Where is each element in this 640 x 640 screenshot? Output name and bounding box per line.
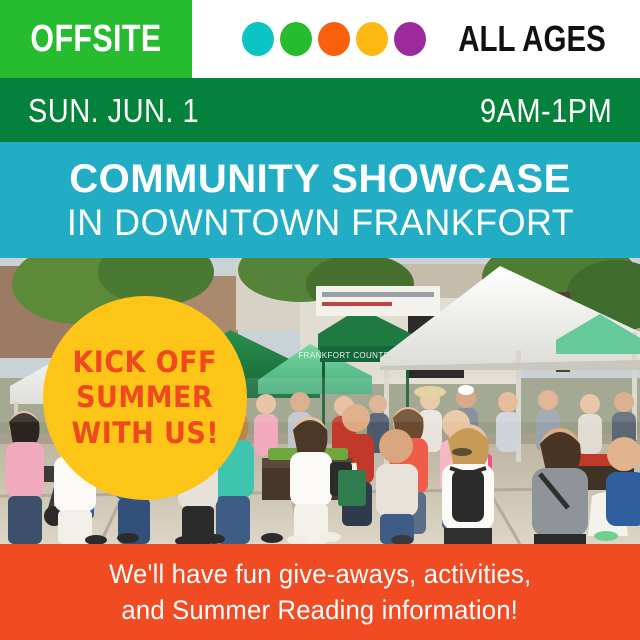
all-ages-label: ALL AGES (458, 21, 606, 57)
event-flyer: OFFSITE ALL AGES SUN. JUN. 1 9AM-1PM COM… (0, 0, 640, 640)
event-headline: COMMUNITY SHOWCASE (69, 158, 571, 200)
bottom-message-line-2: and Summer Reading information! (122, 592, 519, 628)
title-band: COMMUNITY SHOWCASE IN DOWNTOWN FRANKFORT (0, 142, 640, 258)
dot-purple-icon (394, 22, 426, 56)
bottom-message-bar: We'll have fun give-aways, activities, a… (0, 544, 640, 640)
dot-teal-icon (242, 22, 274, 56)
dot-yellow-icon (356, 22, 388, 56)
kick-off-summer-sticker: KICK OFF SUMMER WITH US! (43, 296, 247, 500)
date-time-bar: SUN. JUN. 1 9AM-1PM (0, 78, 640, 142)
top-bar-right: ALL AGES (192, 0, 640, 78)
dot-orange-icon (318, 22, 350, 56)
sticker-line-1: KICK OFF (73, 345, 218, 380)
bottom-message-line-1: We'll have fun give-aways, activities, (109, 556, 531, 592)
offsite-badge: OFFSITE (0, 0, 192, 78)
dot-green-icon (280, 22, 312, 56)
sticker-line-3: WITH US! (71, 416, 218, 451)
color-dots (242, 22, 426, 56)
sticker-line-2: SUMMER (76, 380, 213, 415)
event-subheadline: IN DOWNTOWN FRANKFORT (66, 203, 573, 244)
event-time: 9AM-1PM (480, 94, 612, 127)
top-bar: OFFSITE ALL AGES (0, 0, 640, 78)
event-date: SUN. JUN. 1 (28, 94, 199, 127)
offsite-label: OFFSITE (30, 20, 161, 58)
